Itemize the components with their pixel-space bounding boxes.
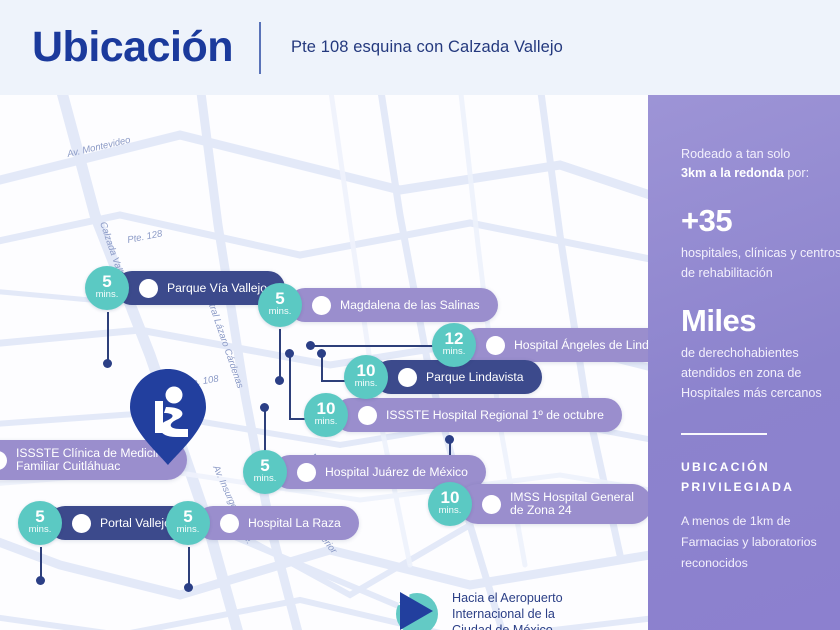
poi-imss-hospital-general-zona-24[interactable]: 10 mins. IMSS Hospital General de Zona 2… (428, 487, 648, 521)
poi-time-badge: 5 mins. (258, 283, 302, 327)
poi-label: Hospital La Raza (248, 517, 341, 530)
poi-time-badge: 5 mins. (18, 501, 62, 545)
poi-minutes: 5 (102, 275, 111, 289)
stat-2-value: Miles (681, 305, 840, 336)
page-header: Ubicación Pte 108 esquina con Calzada Va… (0, 0, 840, 95)
poi-time-badge: 10 mins. (428, 482, 472, 526)
poi-pill[interactable]: Hospital La Raza (196, 506, 359, 540)
sidebar-kicker-line-2: PRIVILEGIADA (681, 477, 840, 497)
header-divider (259, 22, 261, 74)
tree-icon (139, 279, 158, 298)
poi-label: Portal Vallejo (100, 517, 171, 530)
poi-time-badge: 5 mins. (243, 450, 287, 494)
poi-connector (289, 353, 291, 419)
poi-minutes: 5 (260, 459, 269, 473)
poi-minutes: 10 (317, 402, 336, 416)
poi-magdalena-de-las-salinas[interactable]: 5 mins. Magdalena de las Salinas (258, 288, 498, 322)
poi-minutes: 5 (275, 292, 284, 306)
poi-connector (188, 547, 190, 587)
airport-text: Hacia el Aeropuerto Internacional de la … (452, 590, 563, 630)
main-property-pin[interactable] (128, 367, 208, 467)
tree-icon (398, 368, 417, 387)
poi-unit: mins. (29, 524, 52, 536)
location-infographic: Ubicación Pte 108 esquina con Calzada Va… (0, 0, 840, 630)
poi-dot (36, 576, 45, 585)
poi-pill[interactable]: ISSSTE Hospital Regional 1º de octubre (334, 398, 622, 432)
poi-unit: mins. (355, 378, 378, 390)
poi-minutes: 10 (357, 364, 376, 378)
poi-connector (279, 329, 281, 381)
poi-pill[interactable]: IMSS Hospital General de Zona 24 (458, 484, 648, 524)
poi-label: IMSS Hospital General de Zona 24 (510, 491, 634, 517)
stat-2-line-2: atendidos en zona de (681, 363, 840, 383)
sidebar-foot-line-3: reconocidos (681, 553, 840, 574)
sidebar-intro: Rodeado a tan solo 3km a la redonda por: (681, 145, 840, 183)
poi-connector (311, 345, 436, 347)
poi-label: Magdalena de las Salinas (340, 299, 480, 312)
hospital-cross-icon (220, 514, 239, 533)
poi-unit: mins. (315, 416, 338, 428)
poi-dot (184, 583, 193, 592)
hospital-cross-icon (358, 406, 377, 425)
airport-line-1: Hacia el Aeropuerto (452, 590, 563, 606)
hospital-cross-icon (312, 296, 331, 315)
page-title: Ubicación (32, 26, 233, 69)
sidebar-intro-post: por: (784, 166, 809, 180)
poi-unit: mins. (443, 346, 466, 358)
stat-2-line-3: Hospitales más cercanos (681, 383, 840, 403)
street-label: Pte. 128 (126, 228, 164, 246)
poi-time-badge: 12 mins. (432, 323, 476, 367)
stat-1-description: hospitales, clínicas y centros de rehabi… (681, 243, 840, 283)
sidebar-foot-line-1: A menos de 1km de (681, 511, 840, 532)
poi-minutes: 12 (445, 332, 464, 346)
airport-callout: Hacia el Aeropuerto Internacional de la … (396, 590, 577, 630)
sidebar-intro-pre: Rodeado a tan solo (681, 147, 790, 161)
stats-sidebar: Rodeado a tan solo 3km a la redonda por:… (648, 95, 840, 630)
poi-label: Hospital Ángeles de Lindavista (514, 339, 648, 352)
sidebar-divider (681, 433, 767, 435)
poi-issste-hospital-regional[interactable]: 10 mins. ISSSTE Hospital Regional 1º de … (304, 398, 622, 432)
poi-dot (285, 349, 294, 358)
poi-portal-vallejo[interactable]: 5 mins. Portal Vallejo (18, 506, 189, 540)
poi-dot (306, 341, 315, 350)
poi-time-badge: 10 mins. (304, 393, 348, 437)
sidebar-footnote: A menos de 1km de Farmacias y laboratori… (681, 511, 840, 574)
poi-hospital-angeles-de-lindavista[interactable]: 12 mins. Hospital Ángeles de Lindavista (432, 328, 648, 362)
poi-label: Parque Vía Vallejo (167, 282, 267, 295)
hospital-cross-icon (0, 451, 7, 470)
poi-minutes: 5 (35, 510, 44, 524)
stat-1-value: +35 (681, 205, 840, 236)
poi-minutes: 5 (183, 510, 192, 524)
poi-dot (103, 359, 112, 368)
stat-1-line-1: hospitales, clínicas y centros (681, 243, 840, 263)
poi-label: ISSSTE Hospital Regional 1º de octubre (386, 409, 604, 422)
page-subtitle: Pte 108 esquina con Calzada Vallejo (291, 38, 563, 57)
poi-label-line2: de Zona 24 (510, 504, 634, 517)
map-roads: Av. Montevideo Calzada Vallejo Pte. 128 … (0, 95, 648, 630)
stat-1-line-2: de rehabilitación (681, 263, 840, 283)
poi-dot (317, 349, 326, 358)
poi-unit: mins. (254, 473, 277, 485)
poi-pill[interactable]: Hospital Ángeles de Lindavista (462, 328, 648, 362)
poi-parque-lindavista[interactable]: 10 mins. Parque Lindavista (344, 360, 542, 394)
sidebar-kicker-line-1: UBICACIÓN (681, 457, 840, 477)
airport-line-3: Ciudad de México (452, 622, 563, 630)
poi-connector (107, 312, 109, 364)
poi-unit: mins. (96, 289, 119, 301)
hospital-cross-icon (297, 463, 316, 482)
poi-label: Hospital Juárez de México (325, 466, 468, 479)
tree-icon (72, 514, 91, 533)
poi-label: Parque Lindavista (426, 371, 524, 384)
poi-label-line1: IMSS Hospital General (510, 490, 634, 504)
sidebar-intro-bold: 3km a la redonda (681, 166, 784, 180)
poi-dot (275, 376, 284, 385)
poi-dot (445, 435, 454, 444)
hospital-cross-icon (482, 495, 501, 514)
hospital-cross-icon (486, 336, 505, 355)
poi-pill[interactable]: Magdalena de las Salinas (288, 288, 498, 322)
stat-2-line-1: de derechohabientes (681, 343, 840, 363)
poi-hospital-la-raza[interactable]: 5 mins. Hospital La Raza (166, 506, 359, 540)
stat-2-description: de derechohabientes atendidos en zona de… (681, 343, 840, 403)
poi-time-badge: 5 mins. (166, 501, 210, 545)
poi-unit: mins. (269, 306, 292, 318)
sidebar-foot-line-2: Farmacias y laboratorios (681, 532, 840, 553)
map-canvas[interactable]: Av. Montevideo Calzada Vallejo Pte. 128 … (0, 95, 648, 630)
poi-minutes: 10 (441, 491, 460, 505)
poi-time-badge: 5 mins. (85, 266, 129, 310)
poi-unit: mins. (439, 505, 462, 517)
poi-time-badge: 10 mins. (344, 355, 388, 399)
poi-parque-via-vallejo[interactable]: 5 mins. Parque Vía Vallejo (85, 271, 285, 305)
sidebar-kicker: UBICACIÓN PRIVILEGIADA (681, 457, 840, 497)
airport-line-2: Internacional de la (452, 606, 563, 622)
poi-dot (260, 403, 269, 412)
poi-unit: mins. (177, 524, 200, 536)
